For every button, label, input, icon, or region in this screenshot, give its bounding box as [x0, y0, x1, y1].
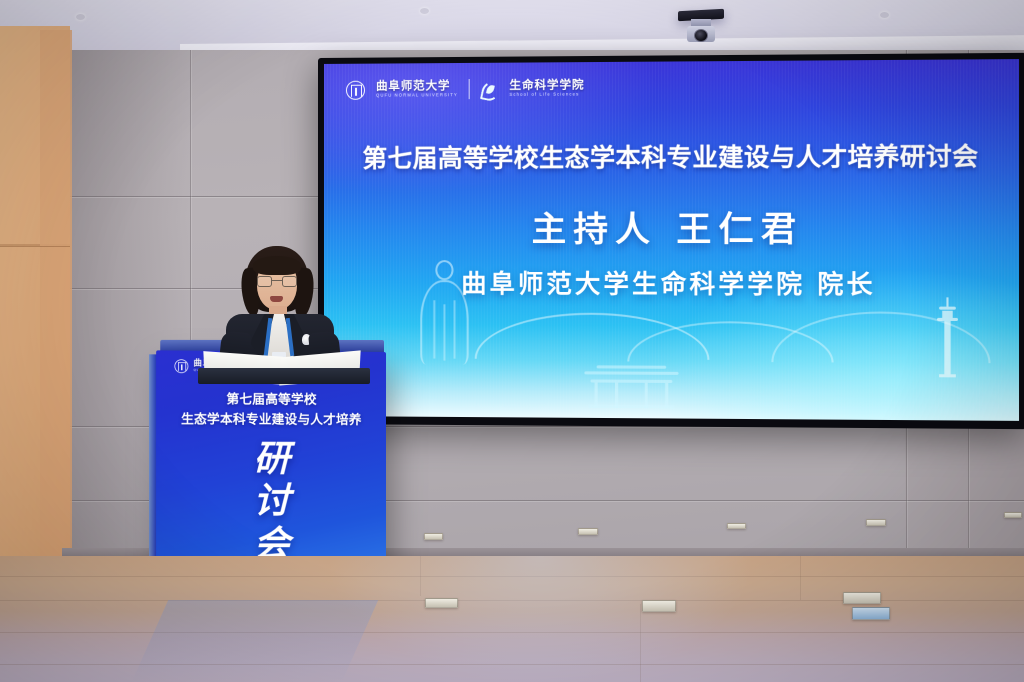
statue-fold [454, 300, 456, 358]
statue-fold [443, 304, 445, 360]
led-screen-bezel: 曲阜师范大学 QUFU NORMAL UNIVERSITY 生命科学学院 Sch… [318, 53, 1024, 429]
school-name-en: School of Life Sciences [509, 93, 584, 98]
floor-outlet-plate [425, 598, 458, 608]
gate-roof [591, 379, 673, 382]
folder-cover [198, 368, 370, 384]
pagoda-tower-lineart [936, 297, 959, 381]
gate-roof [597, 365, 667, 368]
ceiling-light-dot [76, 14, 85, 20]
university-seal-icon [174, 359, 188, 373]
host-name-line: 主持人 王仁君 [324, 201, 1019, 251]
floor-screen-reflection [330, 556, 750, 682]
floor-outlet-plate [642, 600, 676, 612]
bangs [253, 256, 301, 275]
university-name-en: QUFU NORMAL UNIVERSITY [376, 93, 458, 98]
calligraphy-char-1: 研 [156, 437, 386, 480]
floor-outlet-plate [578, 528, 598, 535]
speaker-at-podium [214, 246, 346, 358]
podium-title-line1: 第七届高等学校 [156, 389, 386, 410]
university-name-cn: 曲阜师范大学 [376, 81, 458, 93]
ceiling-light-dot [880, 12, 889, 18]
podium-title-line2: 生态学本科专业建设与人才培养 [156, 408, 386, 429]
camera-lens-icon [694, 29, 708, 42]
floor-outlet-plate [852, 607, 890, 620]
school-name-cn: 生命科学学院 [509, 80, 584, 92]
wood-wall-seam [0, 246, 70, 247]
school-logo-text: 生命科学学院 School of Life Sciences [509, 80, 584, 97]
pagoda-base [939, 374, 956, 377]
pagoda-tier [942, 311, 952, 318]
conference-title: 第七届高等学校生态学本科专业建设与人才培养研讨会 [324, 137, 1019, 175]
host-affiliation-line: 曲阜师范大学生命科学学院 院长 [324, 264, 1019, 302]
leaf-icon [481, 79, 498, 98]
floor-outlet-plate [424, 533, 443, 540]
ceiling-light-dot [420, 8, 429, 14]
university-seal-icon [346, 80, 365, 99]
podium-calligraphy: 研 讨 会 [156, 437, 386, 566]
calligraphy-char-2: 讨 [156, 480, 386, 523]
floor-outlet-plate [1004, 512, 1022, 518]
led-screen-display: 曲阜师范大学 QUFU NORMAL UNIVERSITY 生命科学学院 Sch… [324, 59, 1019, 421]
statue-fold [433, 300, 435, 358]
floor-blue-reflection [132, 600, 379, 682]
floor-seam-vertical [800, 556, 801, 600]
pagoda-tier [939, 307, 956, 310]
hair-side-right [293, 267, 315, 319]
podium-title: 第七届高等学校 生态学本科专业建设与人才培养 [156, 389, 386, 429]
conference-hall-scene: 曲阜师范大学 QUFU NORMAL UNIVERSITY 生命科学学院 Sch… [0, 0, 1024, 682]
wood-wall-left-panel2 [40, 30, 72, 560]
gate-roof [584, 371, 678, 375]
logo-divider [469, 79, 470, 99]
floor-outlet-plate [843, 592, 881, 604]
lens-left [257, 276, 272, 287]
eyeglasses-icon [257, 276, 297, 287]
open-document-folder [204, 354, 362, 384]
gate-base [588, 405, 674, 409]
floor-outlet-plate [727, 523, 746, 529]
pagoda-shaft [944, 321, 950, 374]
mouth [270, 296, 283, 302]
lens-right [282, 276, 297, 287]
paifang-gate-lineart [582, 365, 680, 408]
screen-logo-lockup: 曲阜师范大学 QUFU NORMAL UNIVERSITY 生命科学学院 Sch… [346, 78, 585, 100]
university-logo-text: 曲阜师范大学 QUFU NORMAL UNIVERSITY [376, 81, 458, 98]
floor-outlet-plate [866, 519, 886, 526]
glasses-bridge [272, 280, 282, 281]
